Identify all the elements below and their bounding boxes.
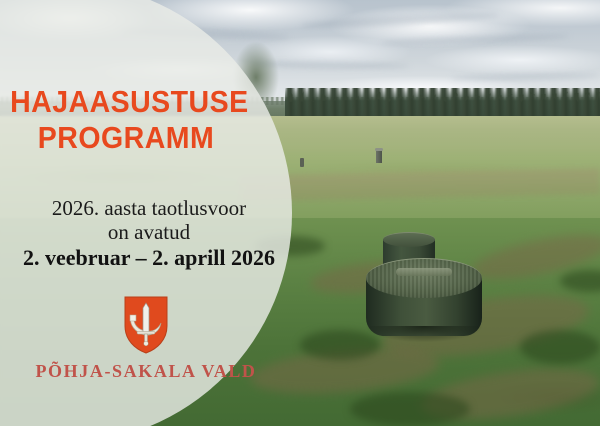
- page-title: HAJAASUSTUSE PROGRAMM: [10, 84, 242, 156]
- subtitle-line-1: 2026. aasta taotlusvoor: [8, 196, 290, 220]
- tank-lid: [383, 232, 435, 247]
- subtitle: 2026. aasta taotlusvoor on avatud: [8, 196, 290, 244]
- title-line-2: PROGRAMM: [10, 120, 242, 156]
- pipe-marker: [376, 150, 382, 163]
- poster: HAJAASUSTUSE PROGRAMM 2026. aasta taotlu…: [0, 0, 600, 426]
- grass-clump: [520, 330, 600, 364]
- municipality-logo: PÕHJA-SAKALA VALD: [0, 296, 292, 382]
- title-line-1: HAJAASUSTUSE: [10, 84, 242, 120]
- tank-lid: [366, 258, 482, 298]
- grass-clump: [350, 392, 470, 426]
- municipality-wordmark: PÕHJA-SAKALA VALD: [35, 361, 256, 382]
- subtitle-line-2: on avatud: [8, 220, 290, 244]
- pipe-marker: [300, 158, 304, 167]
- tank-lid-handle: [396, 268, 452, 276]
- text-panel: HAJAASUSTUSE PROGRAMM 2026. aasta taotlu…: [0, 0, 292, 426]
- application-period: 2. veebruar – 2. aprill 2026: [8, 245, 290, 271]
- coat-of-arms-icon: [123, 296, 169, 354]
- septic-tank-large: [366, 258, 482, 336]
